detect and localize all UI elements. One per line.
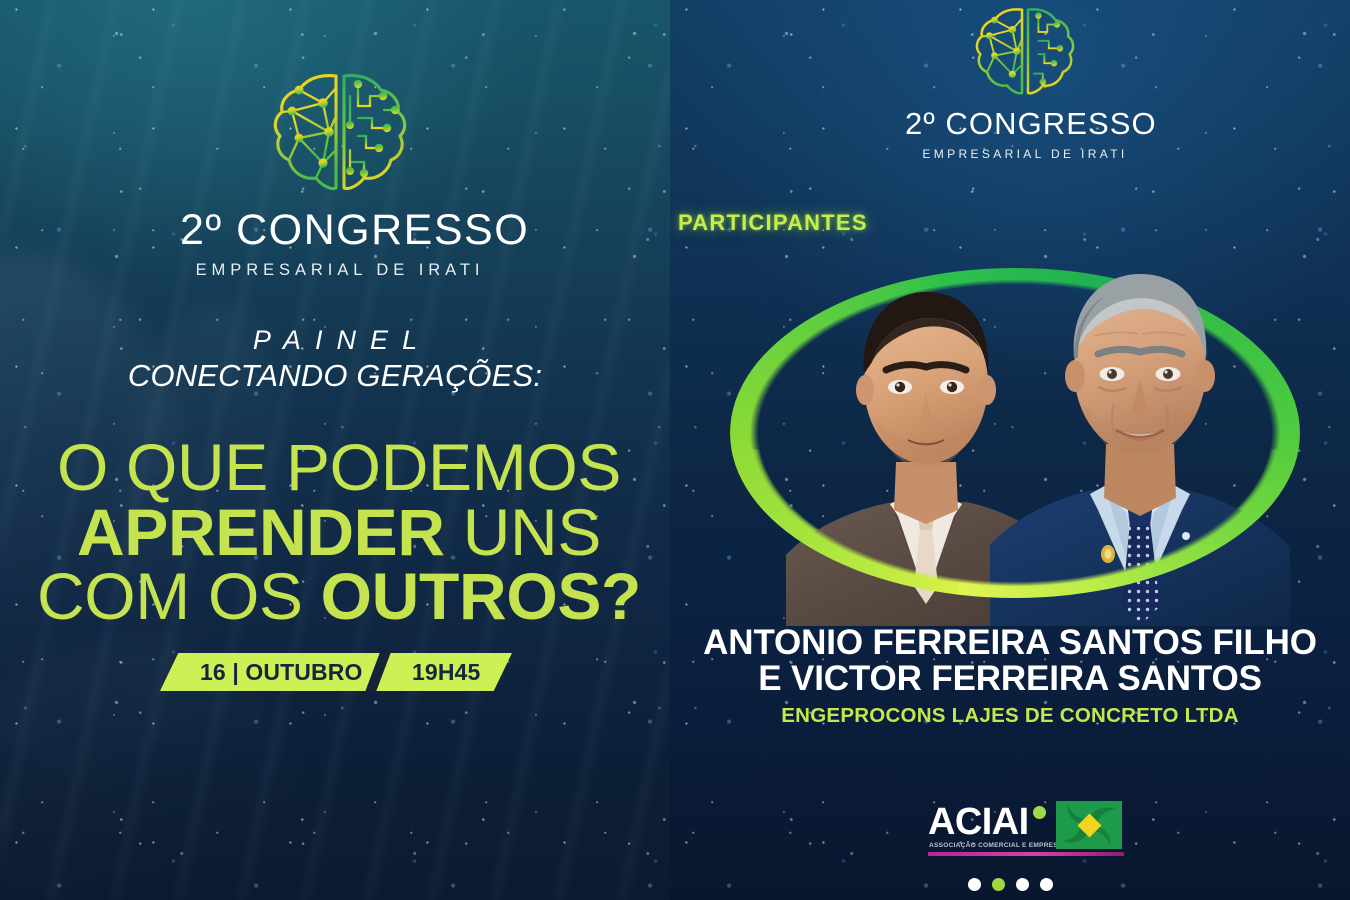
carousel-dot-1[interactable] — [968, 878, 981, 891]
logo-title: 2º CONGRESSO — [180, 206, 500, 255]
participant-company: ENGEPROCONS LAJES DE CONCRETO LTDA — [670, 704, 1350, 728]
carousel-dot-4[interactable] — [1040, 878, 1053, 891]
headline-line-2: APRENDER UNS — [14, 501, 664, 564]
aciai-wordmark: ACIAI — [928, 803, 1029, 841]
brain-network-circuit-icon — [970, 2, 1080, 102]
participants-label: PARTICIPANTES — [678, 210, 868, 236]
headline-line-3: COM OS OUTROS? — [14, 565, 664, 628]
panel-label: PAINEL — [0, 325, 670, 356]
participants-photo — [690, 236, 1350, 626]
congress-logo-left: 2º CONGRESSO EMPRESARIAL DE IRATI — [180, 66, 500, 280]
panel-theme: CONECTANDO GERAÇÕES: — [0, 358, 670, 394]
logo-subtitle: EMPRESARIAL DE IRATI — [905, 147, 1145, 161]
headline-line-1: O QUE PODEMOS — [14, 436, 664, 499]
poster-canvas: 2º CONGRESSO EMPRESARIAL DE IRATI PAINEL… — [0, 0, 1350, 900]
headline: O QUE PODEMOS APRENDER UNS COM OS OUTROS… — [14, 436, 664, 628]
participant-name-line-1: ANTONIO FERREIRA SANTOS FILHO — [670, 625, 1350, 660]
aciai-sponsor-logo: ACIAI ASSOCIAÇÃO COMERCIAL E EMPRESARIAL… — [928, 803, 1128, 859]
badge-date: 16 | OUTUBRO — [200, 653, 362, 691]
congress-logo-right: 2º CONGRESSO EMPRESARIAL DE IRATI — [905, 2, 1145, 161]
carousel-indicator[interactable] — [670, 878, 1350, 891]
participant-name-line-2: E VICTOR FERREIRA SANTOS — [670, 661, 1350, 696]
logo-title: 2º CONGRESSO — [905, 106, 1145, 142]
aciai-underline — [928, 852, 1124, 856]
participant-names: ANTONIO FERREIRA SANTOS FILHO E VICTOR F… — [670, 625, 1350, 728]
logo-subtitle: EMPRESARIAL DE IRATI — [180, 261, 500, 280]
carousel-dot-2[interactable] — [992, 878, 1005, 891]
brain-network-circuit-icon — [266, 66, 414, 200]
aciai-dot-accent — [1033, 806, 1046, 819]
carousel-dot-3[interactable] — [1016, 878, 1029, 891]
date-time-badge: 16 | OUTUBRO 19H45 — [160, 653, 512, 691]
badge-time: 19H45 — [412, 653, 480, 691]
aciai-pinwheel-icon — [1056, 801, 1122, 849]
